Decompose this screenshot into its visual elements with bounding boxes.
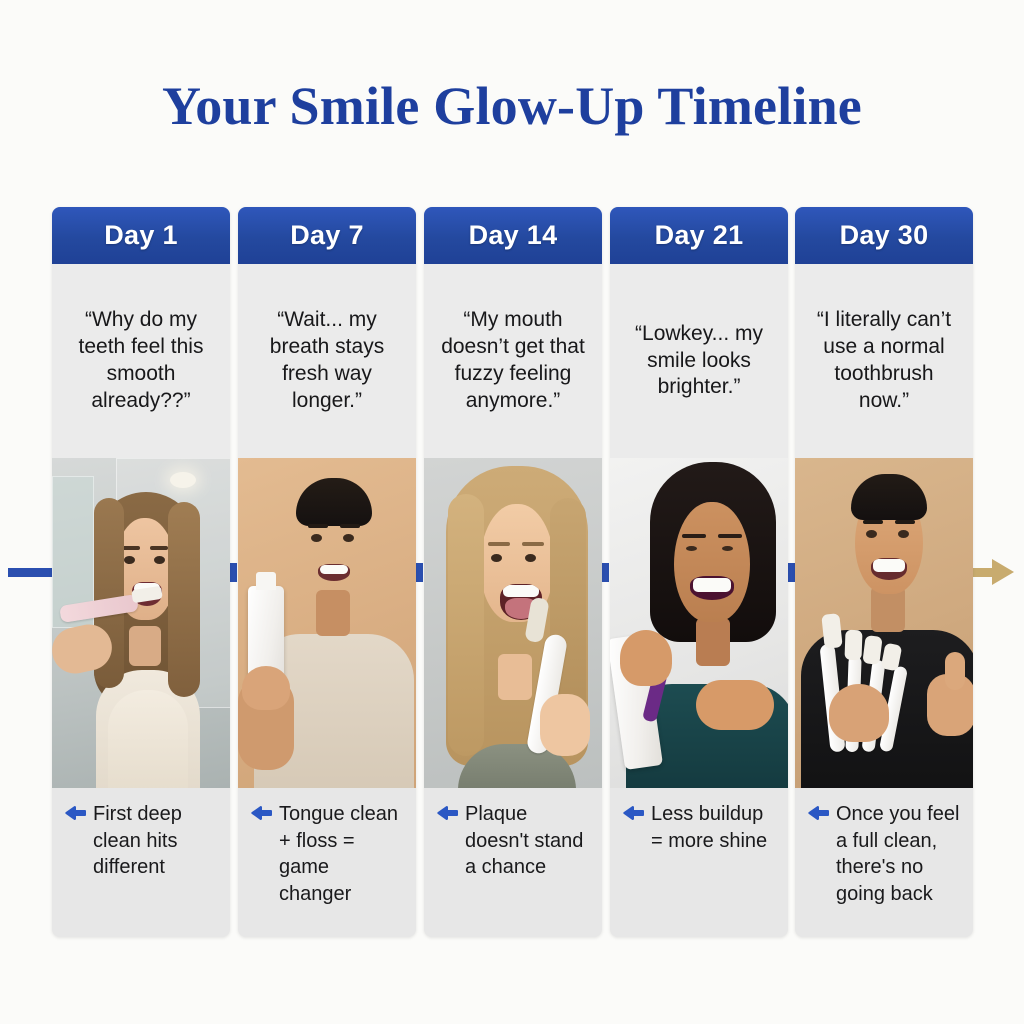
pointing-hand-icon	[250, 805, 272, 827]
caption-box-5: Once you feel a full clean, there's no g…	[795, 788, 973, 937]
quote-box-4: “Lowkey... my smile looks brighter.”	[610, 264, 788, 458]
quote-text-2: “Wait... my breath stays fresh way longe…	[250, 307, 404, 415]
day-header-2: Day 7	[238, 207, 416, 264]
pointing-hand-icon	[622, 805, 644, 827]
timeline-column-day-21[interactable]: Day 21 “Lowkey... my smile looks brighte…	[610, 207, 788, 937]
quote-text-3: “My mouth doesn’t get that fuzzy feeling…	[436, 307, 590, 415]
day-header-5: Day 30	[795, 207, 973, 264]
caption-box-1: First deep clean hits different	[52, 788, 230, 937]
photo-day-7	[238, 458, 416, 788]
pointing-hand-icon	[436, 805, 458, 827]
photo-day-1	[52, 458, 230, 788]
pointing-hand-icon	[807, 805, 829, 827]
caption-box-3: Plaque doesn't stand a chance	[424, 788, 602, 937]
caption-text-5: Once you feel a full clean, there's no g…	[836, 801, 963, 907]
right-arrow-icon	[992, 559, 1014, 585]
day-header-3: Day 14	[424, 207, 602, 264]
infographic-canvas: Your Smile Glow-Up Timeline Day 1 “Why d…	[0, 0, 1024, 1024]
caption-text-4: Less buildup = more shine	[651, 801, 778, 854]
quote-box-3: “My mouth doesn’t get that fuzzy feeling…	[424, 264, 602, 458]
timeline-column-day-7[interactable]: Day 7 “Wait... my breath stays fresh way…	[238, 207, 416, 937]
quote-text-1: “Why do my teeth feel this smooth alread…	[64, 307, 218, 415]
quote-text-4: “Lowkey... my smile looks brighter.”	[622, 321, 776, 402]
timeline-column-day-1[interactable]: Day 1 “Why do my teeth feel this smooth …	[52, 207, 230, 937]
caption-box-4: Less buildup = more shine	[610, 788, 788, 937]
timeline-column-day-14[interactable]: Day 14 “My mouth doesn’t get that fuzzy …	[424, 207, 602, 937]
caption-text-2: Tongue clean + floss = game changer	[279, 801, 406, 907]
timeline-column-day-30[interactable]: Day 30 “I literally can’t use a normal t…	[795, 207, 973, 937]
quote-box-5: “I literally can’t use a normal toothbru…	[795, 264, 973, 458]
caption-text-3: Plaque doesn't stand a chance	[465, 801, 592, 881]
day-header-4: Day 21	[610, 207, 788, 264]
day-header-1: Day 1	[52, 207, 230, 264]
caption-text-1: First deep clean hits different	[93, 801, 220, 881]
quote-box-1: “Why do my teeth feel this smooth alread…	[52, 264, 230, 458]
caption-box-2: Tongue clean + floss = game changer	[238, 788, 416, 937]
photo-day-30	[795, 458, 973, 788]
quote-text-5: “I literally can’t use a normal toothbru…	[807, 307, 961, 415]
page-title: Your Smile Glow-Up Timeline	[0, 75, 1024, 137]
photo-day-21	[610, 458, 788, 788]
quote-box-2: “Wait... my breath stays fresh way longe…	[238, 264, 416, 458]
photo-day-14	[424, 458, 602, 788]
pointing-hand-icon	[64, 805, 86, 827]
